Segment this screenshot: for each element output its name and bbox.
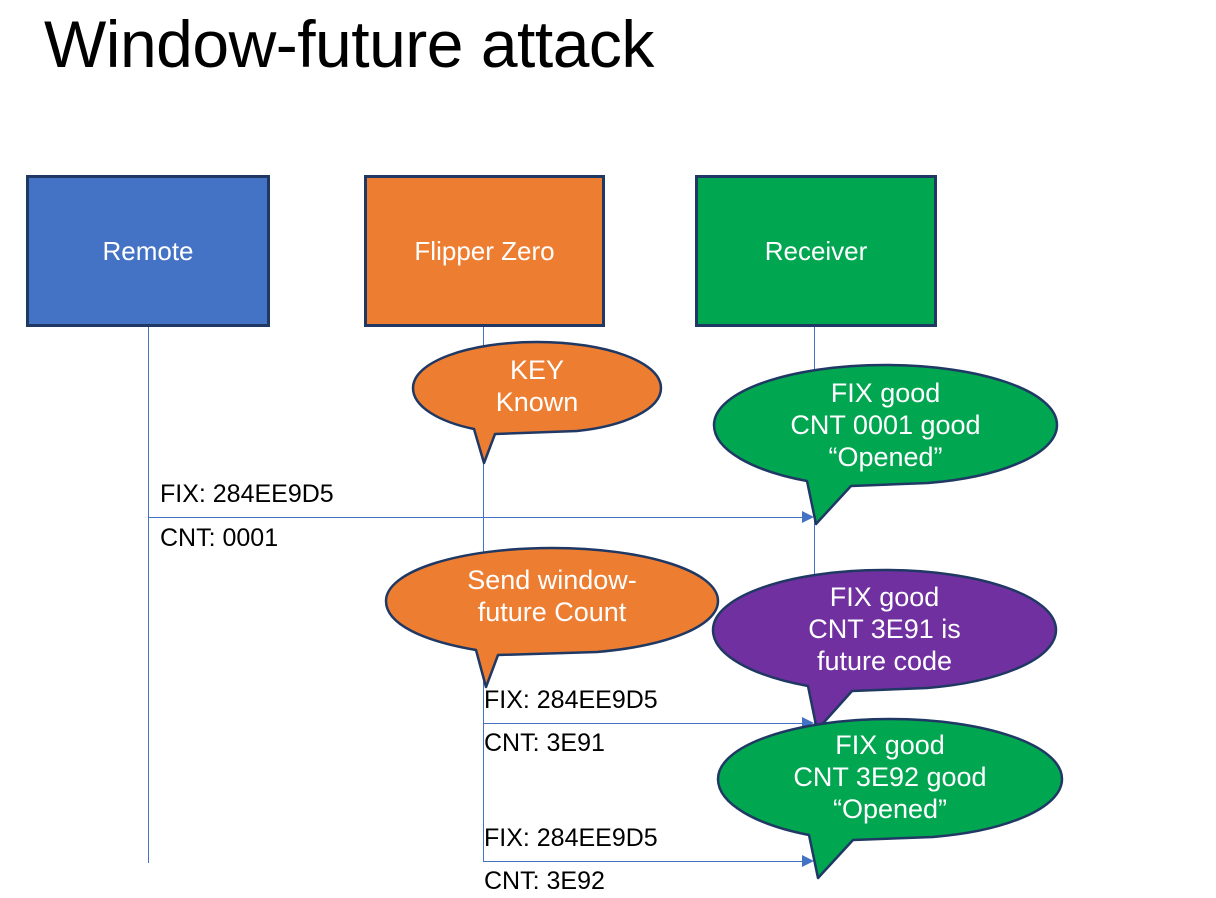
callout-key-known[interactable]: KEY Known [412, 341, 662, 463]
callout-fix-3e92-good[interactable]: FIX good CNT 3E92 good “Opened” [717, 718, 1063, 878]
callout-shape-fix-3e92 [717, 718, 1063, 878]
callout-fix-0001-good[interactable]: FIX good CNT 0001 good “Opened” [713, 364, 1058, 524]
actor-box-remote[interactable]: Remote [26, 175, 270, 327]
message-arrow-line-1 [148, 517, 802, 518]
callout-send-window-future-count[interactable]: Send window- future Count [385, 547, 719, 687]
actor-label-receiver: Receiver [765, 236, 868, 267]
actor-label-remote: Remote [102, 236, 193, 267]
page-title: Window-future attack [44, 8, 654, 81]
callout-shape-key [412, 341, 662, 463]
message-3-fix-label: FIX: 284EE9D5 [484, 824, 658, 852]
message-1-cnt-label: CNT: 0001 [160, 524, 278, 552]
actor-box-receiver[interactable]: Receiver [695, 175, 937, 327]
callout-shape-send-window [385, 547, 719, 687]
message-2-cnt-label: CNT: 3E91 [484, 729, 605, 757]
callout-shape-future-code [712, 569, 1057, 730]
message-2-fix-label: FIX: 284EE9D5 [484, 686, 658, 714]
lifeline-remote [148, 327, 149, 863]
actor-label-flipper: Flipper Zero [414, 236, 554, 267]
message-3-cnt-label: CNT: 3E92 [484, 867, 605, 895]
callout-shape-fix-0001 [713, 364, 1058, 524]
actor-box-flipper[interactable]: Flipper Zero [364, 175, 605, 327]
message-1-fix-label: FIX: 284EE9D5 [160, 480, 334, 508]
callout-future-code[interactable]: FIX good CNT 3E91 is future code [712, 569, 1057, 730]
